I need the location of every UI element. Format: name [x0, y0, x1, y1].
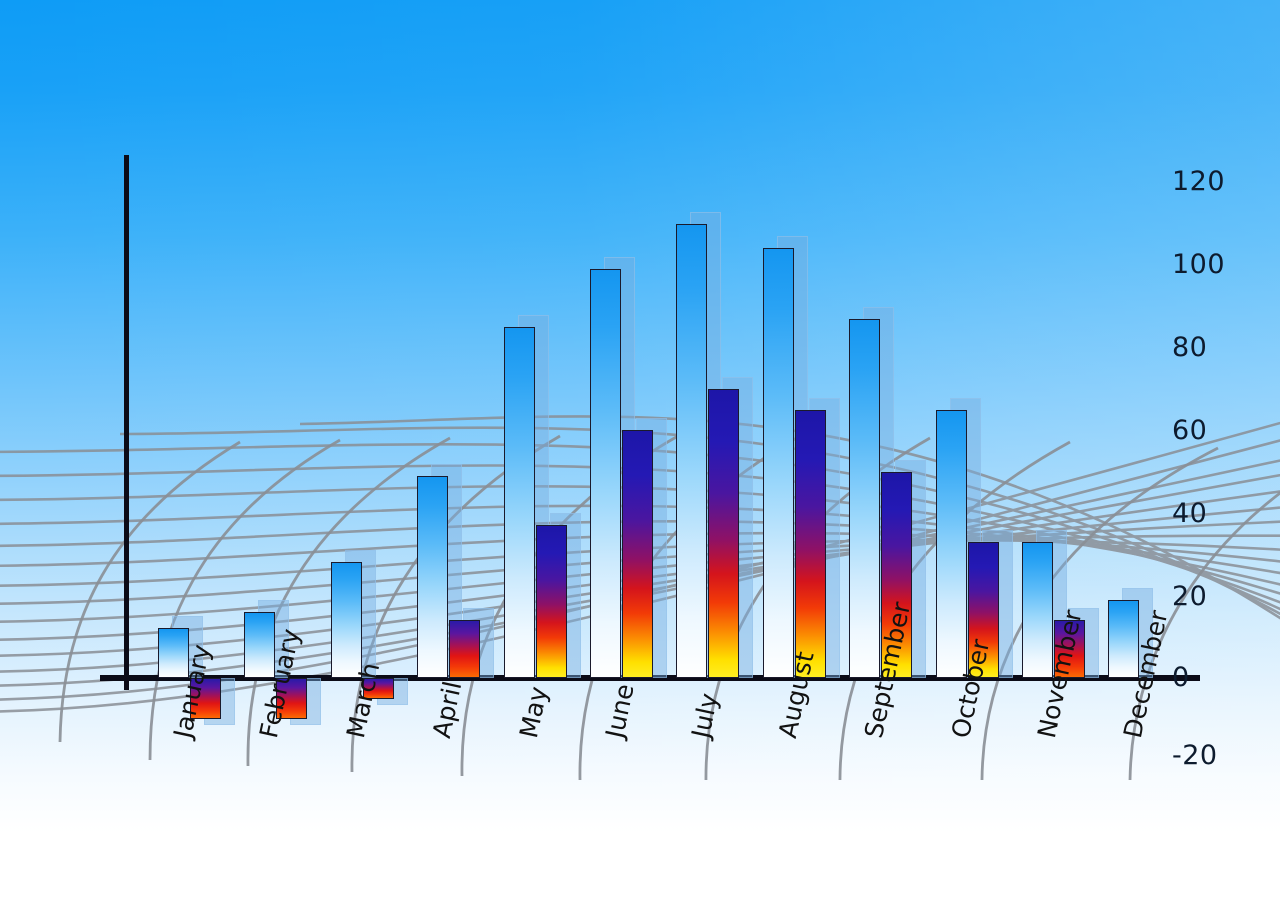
- bar-series1-8[interactable]: [849, 319, 880, 678]
- plot-area: 120 100 80 60 40 20 0 -20 JanuaryFebruar…: [0, 0, 1280, 905]
- bar-series2-7[interactable]: [795, 410, 826, 678]
- y-tick-label-60: 60: [1172, 417, 1280, 444]
- x-axis-label-may: May: [516, 684, 551, 740]
- y-tick-label-120: 120: [1172, 168, 1280, 195]
- chart-canvas: 120 100 80 60 40 20 0 -20 JanuaryFebruar…: [0, 0, 1280, 905]
- y-tick-label-0: 0: [1172, 664, 1280, 691]
- bar-series2-5[interactable]: [622, 430, 653, 678]
- bar-series1-5[interactable]: [590, 269, 621, 678]
- bar-series1-7[interactable]: [763, 248, 794, 678]
- y-tick-label-neg20: -20: [1172, 742, 1280, 769]
- bar-series1-4[interactable]: [504, 327, 535, 678]
- bar-series1-9[interactable]: [936, 410, 967, 678]
- x-axis-label-july: July: [688, 691, 722, 740]
- x-axis-label-april: April: [429, 679, 465, 740]
- bar-series1-6[interactable]: [676, 224, 707, 678]
- bar-series2-6[interactable]: [708, 389, 739, 678]
- y-tick-label-100: 100: [1172, 251, 1280, 278]
- y-tick-label-20: 20: [1172, 583, 1280, 610]
- y-tick-label-40: 40: [1172, 500, 1280, 527]
- x-axis-label-june: June: [602, 682, 638, 740]
- y-tick-label-80: 80: [1172, 334, 1280, 361]
- bar-series1-3[interactable]: [417, 476, 448, 678]
- y-axis-line: [124, 155, 129, 690]
- bar-series2-3[interactable]: [449, 620, 480, 678]
- bar-series2-4[interactable]: [536, 525, 567, 678]
